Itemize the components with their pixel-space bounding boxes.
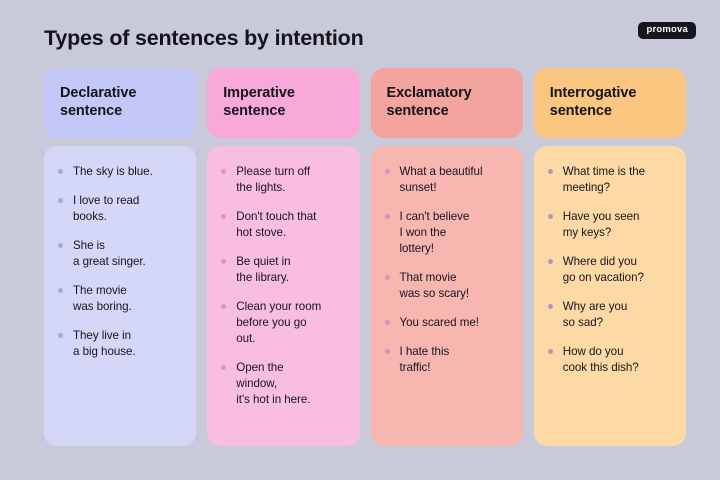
list-item: The sky is blue. xyxy=(57,164,182,180)
sentence-list: What a beautiful sunset!I can't believe … xyxy=(384,164,509,376)
column-title: Imperative sentence xyxy=(223,85,295,120)
bullet-icon xyxy=(548,304,553,309)
list-item: How do you cook this dish? xyxy=(547,344,672,376)
column-body-declarative: The sky is blue.I love to read books.She… xyxy=(44,146,196,446)
sentence-text: How do you cook this dish? xyxy=(563,345,639,374)
sentence-text: Be quiet in the library. xyxy=(236,255,290,284)
column-header-imperative: Imperative sentence xyxy=(207,68,359,138)
list-item: Where did you go on vacation? xyxy=(547,254,672,286)
list-item: Have you seen my keys? xyxy=(547,209,672,241)
bullet-icon xyxy=(385,349,390,354)
slide-canvas: Types of sentences by intention promova … xyxy=(0,0,720,480)
column-body-interrogative: What time is the meeting?Have you seen m… xyxy=(534,146,686,446)
column-title: Interrogative sentence xyxy=(550,85,637,120)
list-item: Please turn off the lights. xyxy=(220,164,345,196)
list-item: She is a great singer. xyxy=(57,238,182,270)
sentence-text: They live in a big house. xyxy=(73,329,136,358)
list-item: Don't touch that hot stove. xyxy=(220,209,345,241)
column-interrogative: Interrogative sentenceWhat time is the m… xyxy=(534,68,686,446)
column-exclamatory: Exclamatory sentenceWhat a beautiful sun… xyxy=(371,68,523,446)
bullet-icon xyxy=(221,304,226,309)
sentence-text: She is a great singer. xyxy=(73,239,146,268)
sentence-text: Where did you go on vacation? xyxy=(563,255,644,284)
column-header-interrogative: Interrogative sentence xyxy=(534,68,686,138)
sentence-text: I love to read books. xyxy=(73,194,139,223)
bullet-icon xyxy=(58,333,63,338)
column-imperative: Imperative sentencePlease turn off the l… xyxy=(207,68,359,446)
bullet-icon xyxy=(221,259,226,264)
bullet-icon xyxy=(548,169,553,174)
column-header-declarative: Declarative sentence xyxy=(44,68,196,138)
column-header-exclamatory: Exclamatory sentence xyxy=(371,68,523,138)
list-item: I can't believe I won the lottery! xyxy=(384,209,509,257)
sentence-list: Please turn off the lights.Don't touch t… xyxy=(220,164,345,408)
bullet-icon xyxy=(548,349,553,354)
list-item: The movie was boring. xyxy=(57,283,182,315)
sentence-text: Please turn off the lights. xyxy=(236,165,310,194)
sentence-type-columns: Declarative sentenceThe sky is blue.I lo… xyxy=(44,68,686,446)
sentence-text: Have you seen my keys? xyxy=(563,210,640,239)
bullet-icon xyxy=(221,214,226,219)
bullet-icon xyxy=(385,169,390,174)
bullet-icon xyxy=(58,169,63,174)
brand-logo: promova xyxy=(638,22,696,39)
sentence-text: Why are you so sad? xyxy=(563,300,628,329)
list-item: I hate this traffic! xyxy=(384,344,509,376)
list-item: Open the window, it's hot in here. xyxy=(220,360,345,408)
bullet-icon xyxy=(385,275,390,280)
bullet-icon xyxy=(58,288,63,293)
bullet-icon xyxy=(385,320,390,325)
column-title: Exclamatory sentence xyxy=(387,85,472,120)
list-item: What time is the meeting? xyxy=(547,164,672,196)
sentence-text: The sky is blue. xyxy=(73,165,153,178)
list-item: Clean your room before you go out. xyxy=(220,299,345,347)
list-item: That movie was so scary! xyxy=(384,270,509,302)
bullet-icon xyxy=(548,259,553,264)
sentence-list: What time is the meeting?Have you seen m… xyxy=(547,164,672,376)
bullet-icon xyxy=(58,198,63,203)
sentence-text: What time is the meeting? xyxy=(563,165,645,194)
sentence-text: Clean your room before you go out. xyxy=(236,300,321,345)
list-item: Be quiet in the library. xyxy=(220,254,345,286)
sentence-text: Don't touch that hot stove. xyxy=(236,210,316,239)
page-title: Types of sentences by intention xyxy=(44,26,364,51)
list-item: They live in a big house. xyxy=(57,328,182,360)
sentence-text: That movie was so scary! xyxy=(400,271,470,300)
sentence-text: The movie was boring. xyxy=(73,284,132,313)
bullet-icon xyxy=(221,169,226,174)
list-item: I love to read books. xyxy=(57,193,182,225)
column-body-exclamatory: What a beautiful sunset!I can't believe … xyxy=(371,146,523,446)
list-item: What a beautiful sunset! xyxy=(384,164,509,196)
list-item: Why are you so sad? xyxy=(547,299,672,331)
sentence-text: You scared me! xyxy=(400,316,479,329)
bullet-icon xyxy=(548,214,553,219)
column-body-imperative: Please turn off the lights.Don't touch t… xyxy=(207,146,359,446)
sentence-list: The sky is blue.I love to read books.She… xyxy=(57,164,182,360)
sentence-text: What a beautiful sunset! xyxy=(400,165,483,194)
bullet-icon xyxy=(221,365,226,370)
column-declarative: Declarative sentenceThe sky is blue.I lo… xyxy=(44,68,196,446)
sentence-text: Open the window, it's hot in here. xyxy=(236,361,310,406)
sentence-text: I can't believe I won the lottery! xyxy=(400,210,470,255)
column-title: Declarative sentence xyxy=(60,85,136,120)
bullet-icon xyxy=(58,243,63,248)
list-item: You scared me! xyxy=(384,315,509,331)
bullet-icon xyxy=(385,214,390,219)
sentence-text: I hate this traffic! xyxy=(400,345,450,374)
